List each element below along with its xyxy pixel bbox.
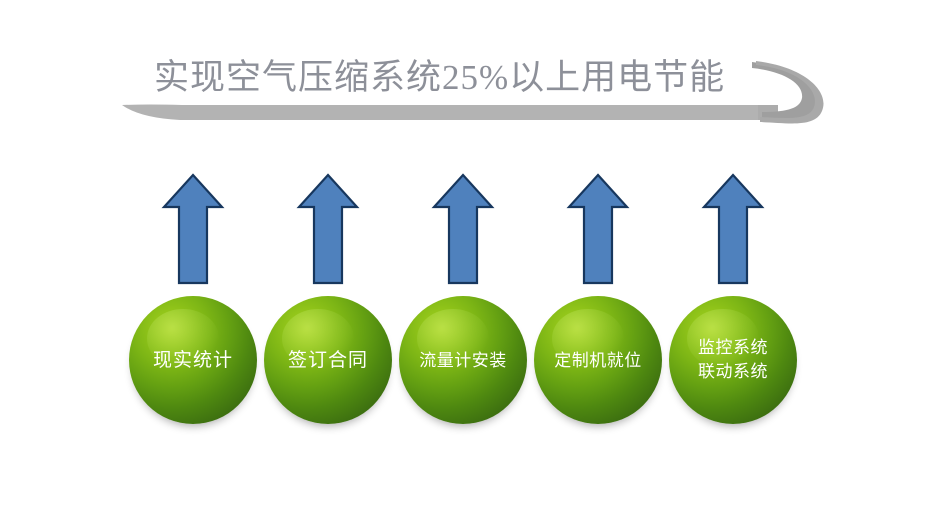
node-label: 流量计安装 xyxy=(399,296,527,424)
node-label: 签订合同 xyxy=(264,296,392,424)
process-node[interactable]: 现实统计 xyxy=(129,296,257,424)
arrow-up-icon xyxy=(431,172,495,286)
node-label: 定制机就位 xyxy=(534,296,662,424)
slide-canvas: 实现空气压缩系统25%以上用电节能 现实统计 签订合同 流量 xyxy=(0,0,945,529)
arrow-up-icon xyxy=(566,172,630,286)
banner-bar xyxy=(122,105,758,121)
arrow-up-icon xyxy=(161,172,225,286)
node-label: 现实统计 xyxy=(129,296,257,424)
process-node[interactable]: 定制机就位 xyxy=(534,296,662,424)
process-node[interactable]: 监控系统 联动系统 xyxy=(669,296,797,424)
title-banner: 实现空气压缩系统25%以上用电节能 xyxy=(110,38,810,138)
page-title: 实现空气压缩系统25%以上用电节能 xyxy=(154,50,774,106)
arrow-up-icon xyxy=(296,172,360,286)
arrow-up-icon xyxy=(701,172,765,286)
process-node[interactable]: 流量计安装 xyxy=(399,296,527,424)
node-label-line2: 联动系统 xyxy=(698,360,768,384)
process-node[interactable]: 签订合同 xyxy=(264,296,392,424)
node-label-line1: 监控系统 xyxy=(698,336,768,360)
node-label: 监控系统 联动系统 xyxy=(669,296,797,424)
